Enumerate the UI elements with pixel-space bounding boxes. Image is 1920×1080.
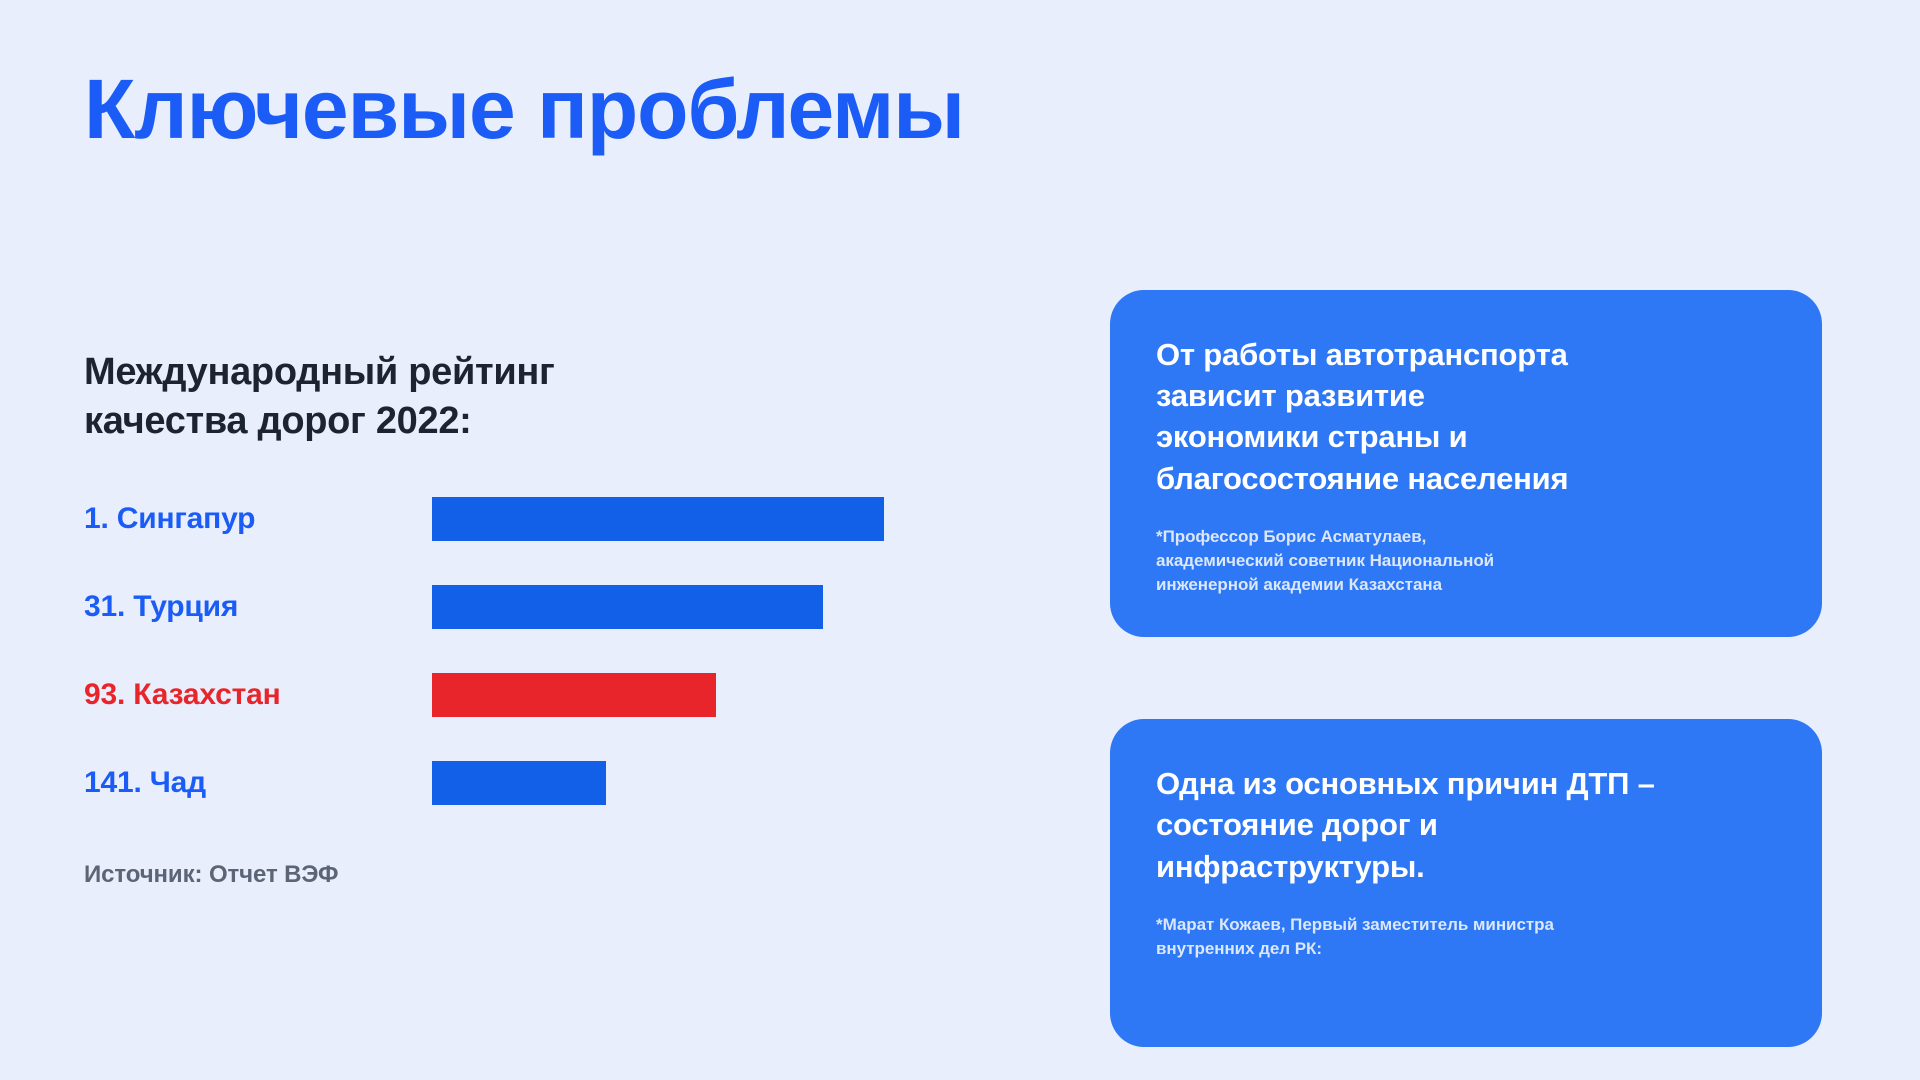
bar-row: 93. Казахстан (84, 651, 984, 739)
bar-label-kazakhstan: 93. Казахстан (84, 678, 432, 712)
chart-title: Международный рейтинг качества дорог 202… (84, 348, 644, 445)
quote-cards: От работы автотранспорта зависит развити… (1110, 290, 1822, 1047)
quote-card-accidents: Одна из основных причин ДТП – состояние … (1110, 719, 1822, 1047)
bar-row: 141. Чад (84, 739, 984, 827)
chart-source: Источник: Отчет ВЭФ (84, 861, 984, 889)
quote-line: Одна из основных причин ДТП – (1156, 763, 1776, 804)
bar-track (432, 497, 984, 541)
bar-track (432, 585, 984, 629)
chart-panel: Международный рейтинг качества дорог 202… (84, 348, 984, 889)
quote-line: благосостояние населения (1156, 458, 1776, 499)
attrib-line: внутренних дел РК: (1156, 937, 1776, 961)
bar-fill-singapore (432, 497, 884, 541)
slide-root: Ключевые проблемы Международный рейтинг … (0, 0, 1920, 1080)
chart-title-line-1: Международный рейтинг (84, 348, 644, 397)
quote-text: От работы автотранспорта зависит развити… (1156, 334, 1776, 499)
quote-card-economy: От работы автотранспорта зависит развити… (1110, 290, 1822, 637)
page-title: Ключевые проблемы (84, 62, 964, 156)
bar-label-singapore: 1. Сингапур (84, 502, 432, 536)
bar-row: 31. Турция (84, 563, 984, 651)
bar-chart: 1. Сингапур 31. Турция 93. Казахстан 141… (84, 475, 984, 827)
quote-text: Одна из основных причин ДТП – состояние … (1156, 763, 1776, 887)
quote-line: инфраструктуры. (1156, 846, 1776, 887)
bar-track (432, 761, 984, 805)
quote-line: От работы автотранспорта (1156, 334, 1776, 375)
quote-line: экономики страны и (1156, 416, 1776, 457)
bar-fill-kazakhstan (432, 673, 716, 717)
attrib-line: академический советник Национальной (1156, 549, 1776, 573)
bar-label-chad: 141. Чад (84, 766, 432, 800)
quote-attribution: *Марат Кожаев, Первый заместитель минист… (1156, 913, 1776, 961)
attrib-line: инженерной академии Казахстана (1156, 573, 1776, 597)
quote-line: зависит развитие (1156, 375, 1776, 416)
bar-label-turkey: 31. Турция (84, 590, 432, 624)
attrib-line: *Профессор Борис Асматулаев, (1156, 525, 1776, 549)
chart-title-line-2: качества дорог 2022: (84, 397, 644, 446)
bar-fill-turkey (432, 585, 823, 629)
bar-fill-chad (432, 761, 606, 805)
bar-row: 1. Сингапур (84, 475, 984, 563)
quote-line: состояние дорог и (1156, 804, 1776, 845)
quote-attribution: *Профессор Борис Асматулаев, академическ… (1156, 525, 1776, 597)
bar-track (432, 673, 984, 717)
attrib-line: *Марат Кожаев, Первый заместитель минист… (1156, 913, 1776, 937)
